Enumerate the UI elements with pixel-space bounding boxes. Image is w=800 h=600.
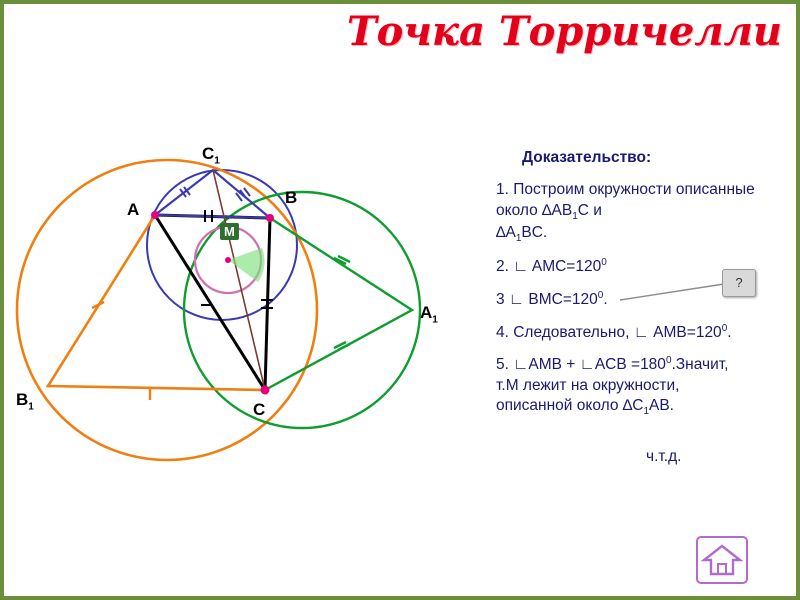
page-title: Точка Торричелли xyxy=(347,8,782,55)
triangle-ba1c xyxy=(265,218,412,390)
label-sub-b1: 1 xyxy=(28,401,34,412)
vertex-b xyxy=(266,214,274,222)
geometry-diagram: C1 A B M A1 B1 C xyxy=(0,60,490,560)
qed-text: ч.т.д. xyxy=(646,447,786,467)
step3-tail: . xyxy=(603,291,607,308)
step1-text-e: BC. xyxy=(521,224,547,241)
step4-text: 4. Следовательно, ∟ AMB=120 xyxy=(496,324,722,341)
home-button[interactable] xyxy=(696,536,748,584)
step1-text-a: 1. Построим окружности описанные около xyxy=(496,181,755,218)
vertex-c xyxy=(261,386,270,395)
tick-marks-blue xyxy=(180,187,250,201)
home-icon[interactable] xyxy=(696,536,748,584)
step1-text-b: AB xyxy=(552,202,573,219)
proof-step-4: 4. Следовательно, ∟ AMB=1200. xyxy=(496,322,786,344)
point-label-m: M xyxy=(220,223,239,240)
vertex-m xyxy=(225,257,231,263)
step5-line2: т.М лежит на окружности, xyxy=(496,377,679,394)
point-label-c1: C1 xyxy=(202,144,220,166)
label-sub-c1: 1 xyxy=(214,155,220,166)
proof-heading: Доказательство: xyxy=(522,148,786,168)
angle-wedge-m xyxy=(228,248,265,282)
triangle-ab1c xyxy=(48,215,265,390)
step5-line1b: .Значит, xyxy=(672,356,729,373)
hint-callout-line xyxy=(620,282,725,304)
tick-marks-green xyxy=(334,256,350,350)
step1-text-d: A xyxy=(505,224,515,241)
step5-line3c: AB. xyxy=(649,397,674,414)
step5-line3b: C xyxy=(632,397,643,414)
step2-degree: 0 xyxy=(601,257,607,268)
step4-tail: . xyxy=(727,324,731,341)
point-label-b: B xyxy=(285,188,297,208)
point-label-a: A xyxy=(127,200,139,220)
point-label-a1: A1 xyxy=(420,303,438,325)
circle-blue-ab1c xyxy=(147,170,297,320)
proof-step-1: 1. Построим окружности описанные около ∆… xyxy=(496,180,786,245)
proof-panel: Доказательство: 1. Построим окружности о… xyxy=(496,148,786,467)
label-sub-a1: 1 xyxy=(432,314,438,325)
diagram-svg xyxy=(0,60,490,560)
step5-line1: 5. ∟AMB + ∟ACB =180 xyxy=(496,356,666,373)
step1-text-c: C и xyxy=(578,202,602,219)
proof-step-5: 5. ∟AMB + ∟ACB =1800.Значит, т.М лежит н… xyxy=(496,354,786,418)
point-label-c: C xyxy=(253,400,265,420)
step2-text: 2. ∟ AMC=120 xyxy=(496,259,601,276)
step5-triangle-icon: ∆ xyxy=(623,397,632,414)
triangle-abc xyxy=(155,215,270,390)
step1-triangle-icon: ∆ xyxy=(542,202,551,219)
tick-marks-orange xyxy=(92,302,150,400)
step3-text: 3 ∟ BMC=120 xyxy=(496,291,598,308)
step5-line3a: описанной около xyxy=(496,397,623,414)
point-label-b1: B1 xyxy=(16,390,34,412)
vertex-a xyxy=(151,211,159,219)
hint-button[interactable]: ? xyxy=(722,269,756,297)
